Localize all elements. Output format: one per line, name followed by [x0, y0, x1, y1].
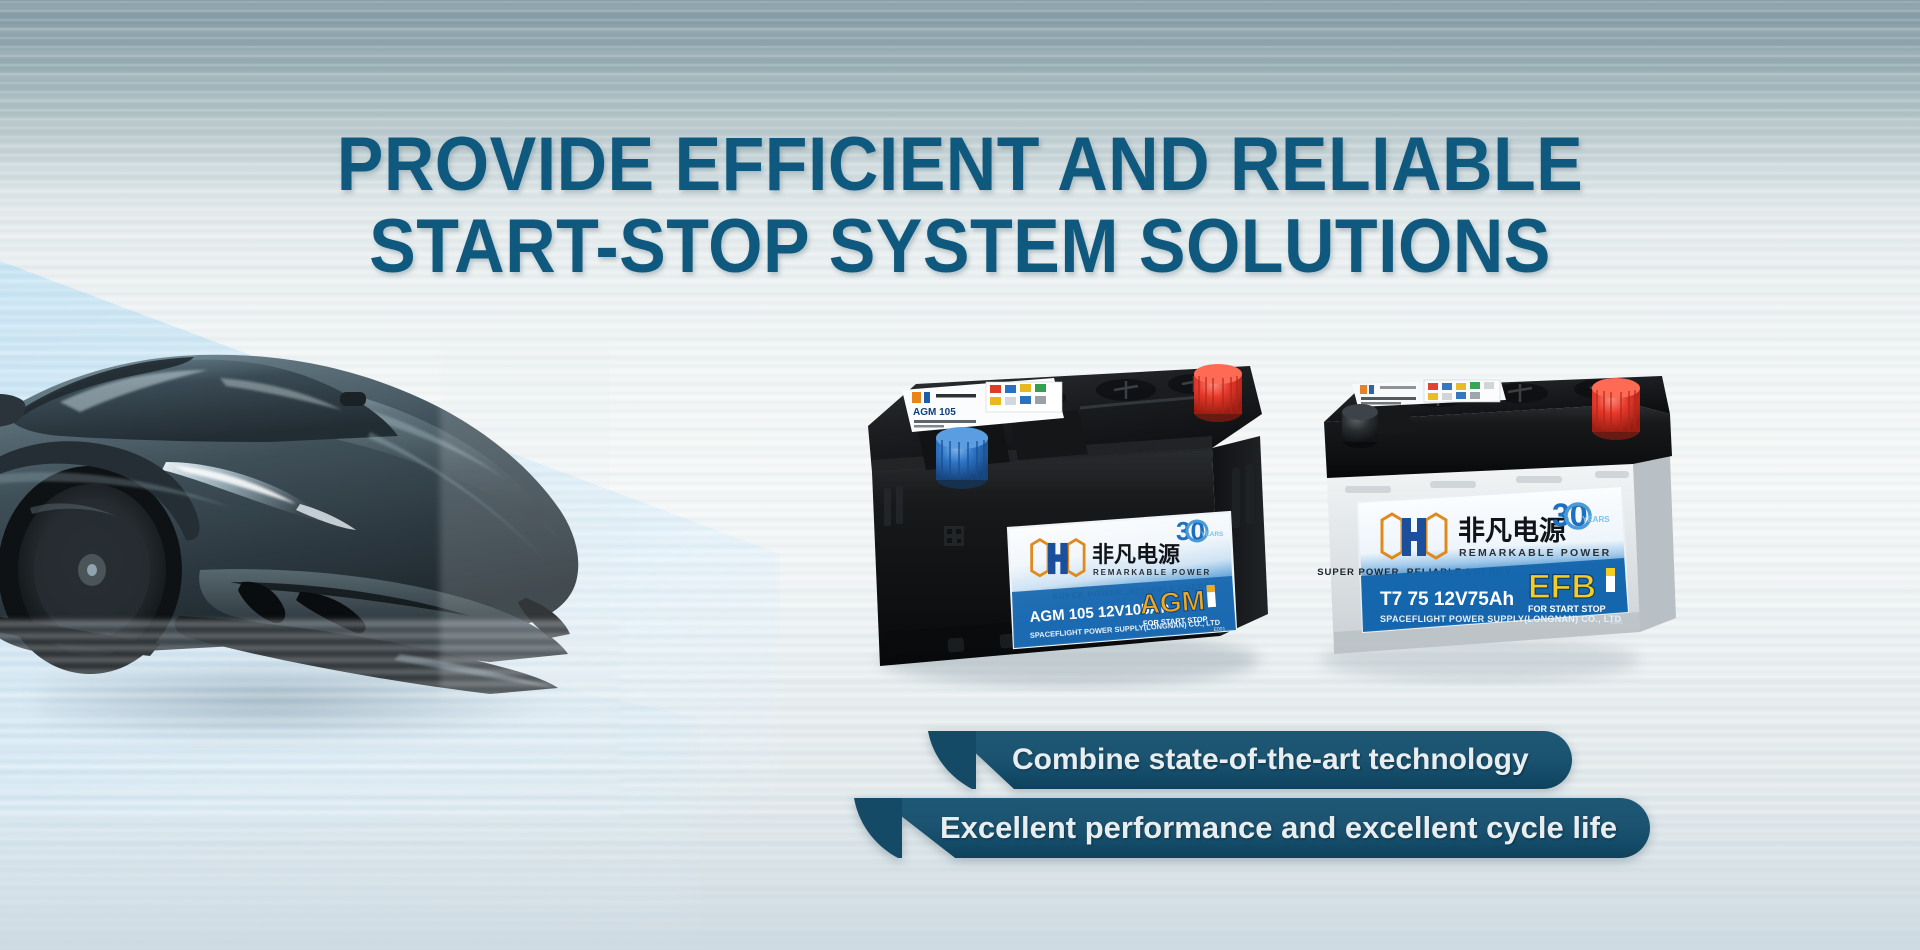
efb-company: SPACEFLIGHT POWER SUPPLY(LONGNAN) CO., L…	[1380, 614, 1622, 624]
agm-product-label: 非凡电源 REMARKABLE POWER 30 YEARS SUPER POW…	[1008, 512, 1236, 648]
agm-negative-terminal	[936, 427, 988, 489]
car-roof-sensor	[340, 392, 366, 406]
efb-brand-cn: 非凡电源	[1458, 516, 1566, 547]
car-motion-blur	[440, 340, 610, 700]
agm-brand-en: REMARKABLE POWER	[1093, 568, 1211, 577]
agm-qr-code	[944, 526, 964, 546]
feature-pill-technology-label: Combine state-of-the-art technology	[1012, 743, 1529, 777]
efb-brand-en: REMARKABLE POWER	[1459, 547, 1611, 559]
agm-battery: AGM 105	[868, 364, 1268, 666]
efb-positive-terminal	[1592, 378, 1640, 440]
efb-case-side	[1633, 456, 1676, 632]
headline-line-1: PROVIDE EFFICIENT AND RELIABLE	[77, 128, 1843, 202]
efb-code: E001	[1610, 620, 1623, 626]
hero-banner: PROVIDE EFFICIENT AND RELIABLE START-STO…	[0, 0, 1920, 950]
efb-vent-slot	[1595, 471, 1629, 478]
agm-positive-terminal	[1194, 364, 1242, 422]
feature-pill-performance-label: Excellent performance and excellent cycl…	[940, 810, 1617, 846]
efb-technology: EFB	[1528, 568, 1596, 606]
efb-vent-slot	[1345, 486, 1391, 493]
efb-negative-terminal	[1342, 404, 1378, 448]
agm-top-label-title: AGM 105	[913, 407, 956, 418]
agm-code: E001	[1213, 626, 1225, 633]
sports-car-image	[0, 270, 610, 740]
svg-text:YEARS: YEARS	[1201, 531, 1224, 538]
pill-nose-shape	[832, 798, 902, 858]
efb-model: T7 75 12V75Ah	[1380, 589, 1514, 610]
efb-battery: 非凡电源 REMARKABLE POWER 30 YEARS SUPER POW…	[1317, 376, 1676, 654]
efb-vent-slot	[1430, 481, 1476, 488]
feature-pill-technology[interactable]: Combine state-of-the-art technology	[952, 731, 1572, 789]
efb-product-label: 非凡电源 REMARKABLE POWER 30 YEARS SUPER POW…	[1317, 486, 1628, 632]
feature-pill-performance[interactable]: Excellent performance and excellent cycl…	[878, 798, 1650, 858]
pill-nose-shape	[906, 731, 976, 789]
headline-line-2: START-STOP SYSTEM SOLUTIONS	[77, 210, 1843, 284]
battery-product-group: 非凡电源 REMARKABLE POWER 30 YEARS SUPER POW…	[840, 360, 1740, 730]
page-title: PROVIDE EFFICIENT AND RELIABLE START-STO…	[0, 128, 1920, 284]
agm-brand-cn: 非凡电源	[1092, 543, 1180, 568]
efb-usage: FOR START STOP	[1528, 604, 1606, 614]
efb-vent-slot	[1516, 476, 1562, 483]
svg-text:YEARS: YEARS	[1582, 515, 1610, 524]
